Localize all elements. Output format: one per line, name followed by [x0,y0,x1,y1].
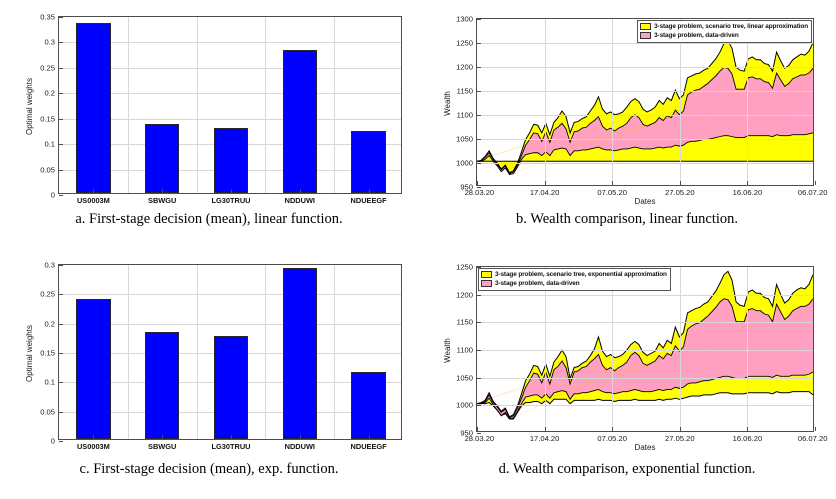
y-tick-label: 0.35 [40,13,55,22]
figure-page: Optimal weights 00.050.10.150.20.250.30.… [0,0,836,499]
y-tick-mark [59,144,63,145]
gridline [477,91,813,92]
x-tick-mark [477,181,478,185]
y-tick-label: 1200 [456,63,473,72]
x-tick-mark [300,435,301,439]
x-tick-mark [162,435,163,439]
panel-b: Wealth Dates 3-stage problem, scenario t… [418,0,836,250]
y-tick-mark [477,163,481,164]
gridline [477,295,813,296]
y-tick-mark [477,115,481,116]
chart-d-ylabel: Wealth [442,338,451,363]
y-tick-mark [59,42,63,43]
y-tick-mark [477,322,481,323]
y-tick-mark [59,17,63,18]
y-tick-label: 1100 [457,346,473,355]
x-tick-mark [300,189,301,193]
gridline-vertical [334,265,335,439]
y-tick-mark [477,43,481,44]
x-tick-label: 28.03.20 [465,188,495,197]
y-tick-mark [59,195,63,196]
x-tick-label: 28.03.20 [465,434,495,443]
gridline-vertical [197,17,198,193]
chart-a-axes[interactable]: Optimal weights 00.050.10.150.20.250.30.… [58,16,402,194]
y-tick-label: 0.1 [44,378,55,387]
gridline-vertical [545,267,546,431]
y-tick-label: 1200 [456,290,473,299]
y-tick-label: 0.05 [40,165,55,174]
y-tick-label: 0.3 [44,261,55,270]
chart-c-axes[interactable]: Optimal weights 00.050.10.150.20.250.3US… [58,264,402,440]
gridline-vertical [334,17,335,193]
y-tick-mark [477,350,481,351]
y-tick-mark [477,67,481,68]
x-tick-mark [680,181,681,185]
y-tick-mark [59,68,63,69]
legend-swatch-icon [481,271,492,278]
chart-d-xlabel: Dates [477,443,813,452]
gridline [477,115,813,116]
legend-swatch-icon [481,280,492,287]
chart-b-axes[interactable]: Wealth Dates 3-stage problem, scenario t… [476,18,814,186]
y-tick-mark [59,441,63,442]
panel-d-figure: Wealth Dates 3-stage problem, scenario t… [418,250,836,458]
y-tick-label: 1100 [457,111,473,120]
x-tick-label: 17.04.20 [530,188,560,197]
y-tick-label: 0.15 [40,114,55,123]
gridline [477,139,813,140]
y-tick-mark [477,139,481,140]
y-tick-mark [477,405,481,406]
y-tick-mark [59,412,63,413]
x-tick-mark [477,427,478,431]
y-tick-mark [59,265,63,266]
chart-d-axes[interactable]: Wealth Dates 3-stage problem, scenario t… [476,266,814,432]
gridline [477,405,813,406]
y-tick-mark [59,294,63,295]
gridline-vertical [545,19,546,185]
x-tick-label: 16.06.20 [733,434,763,443]
x-tick-label: LG30TRUU [211,442,250,451]
bar-sbwgu[interactable] [145,124,179,193]
x-tick-label: US0003M [77,442,110,451]
panel-c-caption: c. First-stage decision (mean), exp. fun… [0,458,418,478]
gridline [477,67,813,68]
x-tick-label: US0003M [77,196,110,205]
legend-entry-0[interactable]: 3-stage problem, scenario tree, exponent… [481,270,667,279]
bar-ndueegf[interactable] [351,372,385,439]
y-tick-mark [59,93,63,94]
x-tick-mark [815,427,816,431]
panel-d-caption: d. Wealth comparison, exponential functi… [418,458,836,478]
chart-d-legend[interactable]: 3-stage problem, scenario tree, exponent… [478,268,671,291]
panel-a-caption: a. First-stage decision (mean), linear f… [0,208,418,228]
gridline-vertical [128,17,129,193]
panel-a-figure: Optimal weights 00.050.10.150.20.250.30.… [0,0,418,208]
x-tick-mark [815,181,816,185]
gridline-vertical [747,267,748,431]
x-tick-label: 06.07.20 [798,434,828,443]
x-tick-mark [612,181,613,185]
gridline-vertical [265,17,266,193]
bar-us0003m[interactable] [76,299,110,439]
panel-a: Optimal weights 00.050.10.150.20.250.30.… [0,0,418,250]
y-tick-label: 1050 [456,135,473,144]
gridline [477,350,813,351]
y-tick-mark [59,382,63,383]
x-tick-mark [545,427,546,431]
bar-lg30truu[interactable] [214,336,248,439]
y-tick-label: 0.1 [44,140,55,149]
x-tick-mark [747,181,748,185]
gridline [477,163,813,164]
gridline-vertical [265,265,266,439]
x-tick-mark [747,427,748,431]
legend-swatch-icon [640,23,651,30]
bar-ndduwi[interactable] [283,268,317,439]
legend-label: 3-stage problem, scenario tree, exponent… [495,271,667,278]
x-tick-label: NDUEEGF [351,442,387,451]
x-tick-label: 27.05.20 [665,188,695,197]
x-tick-mark [612,427,613,431]
x-tick-mark [545,181,546,185]
gridline-vertical [612,19,613,185]
x-tick-label: 07.05.20 [597,188,627,197]
x-tick-mark [93,189,94,193]
x-tick-mark [369,435,370,439]
y-tick-label: 0.25 [40,290,55,299]
x-tick-mark [231,435,232,439]
x-tick-label: 17.04.20 [530,434,560,443]
x-tick-mark [231,189,232,193]
gridline-vertical [612,267,613,431]
legend-label: 3-stage problem, scenario tree, linear a… [654,23,808,30]
legend-entry-0[interactable]: 3-stage problem, scenario tree, linear a… [640,22,808,31]
chart-c-ylabel: Optimal weights [24,325,33,382]
y-tick-mark [477,19,481,20]
x-tick-label: 27.05.20 [665,434,695,443]
y-tick-mark [477,91,481,92]
y-tick-mark [477,295,481,296]
x-tick-label: NDUEEGF [351,196,387,205]
gridline-vertical [128,265,129,439]
y-tick-label: 0.2 [44,319,55,328]
bar-lg30truu[interactable] [214,128,248,193]
y-tick-label: 1250 [456,263,473,272]
x-tick-mark [369,189,370,193]
x-tick-label: LG30TRUU [211,196,250,205]
x-tick-mark [93,435,94,439]
bar-ndduwi[interactable] [283,50,317,193]
gridline [59,294,401,295]
gridline-vertical [747,19,748,185]
y-tick-mark [59,170,63,171]
y-tick-label: 1050 [456,373,473,382]
panel-d: Wealth Dates 3-stage problem, scenario t… [418,250,836,499]
gridline [477,322,813,323]
gridline [477,378,813,379]
y-tick-label: 0.15 [40,349,55,358]
chart-b-legend[interactable]: 3-stage problem, scenario tree, linear a… [637,20,812,43]
y-tick-label: 1150 [457,318,473,327]
x-tick-mark [680,427,681,431]
gridline [477,43,813,44]
y-tick-label: 1150 [457,87,473,96]
chart-b-ylabel: Wealth [442,91,451,116]
bar-ndueegf[interactable] [351,131,385,193]
chart-a-ylabel: Optimal weights [24,78,33,135]
y-tick-mark [59,324,63,325]
y-tick-mark [59,353,63,354]
y-tick-label: 0 [51,437,55,446]
panel-b-caption: b. Wealth comparison, linear function. [418,208,836,228]
legend-entry-1[interactable]: 3-stage problem, data-driven [640,31,808,40]
gridline-vertical [197,265,198,439]
legend-swatch-icon [640,32,651,39]
x-tick-label: SBWGU [148,196,176,205]
legend-label: 3-stage problem, data-driven [495,280,580,287]
legend-label: 3-stage problem, data-driven [654,32,739,39]
y-tick-label: 0 [51,191,55,200]
chart-b-xlabel: Dates [477,197,813,206]
y-tick-label: 1000 [456,401,473,410]
y-tick-label: 1300 [456,15,473,24]
x-tick-label: NDDUWI [285,196,315,205]
legend-entry-1[interactable]: 3-stage problem, data-driven [481,279,667,288]
y-tick-label: 1250 [456,39,473,48]
chart-d-plot [477,267,813,431]
panel-c-figure: Optimal weights 00.050.10.150.20.250.3US… [0,250,418,458]
bar-us0003m[interactable] [76,23,110,193]
x-tick-label: 16.06.20 [733,188,763,197]
x-tick-label: SBWGU [148,442,176,451]
gridline-vertical [680,267,681,431]
panel-c: Optimal weights 00.050.10.150.20.250.3US… [0,250,418,499]
y-tick-label: 0.3 [44,38,55,47]
y-tick-label: 1000 [456,159,473,168]
y-tick-label: 0.2 [44,89,55,98]
y-tick-mark [59,119,63,120]
x-tick-mark [162,189,163,193]
y-tick-mark [477,378,481,379]
y-tick-label: 0.25 [40,63,55,72]
x-tick-label: 06.07.20 [798,188,828,197]
panel-b-figure: Wealth Dates 3-stage problem, scenario t… [418,0,836,208]
gridline-vertical [680,19,681,185]
x-tick-label: 07.05.20 [597,434,627,443]
y-tick-label: 0.05 [40,407,55,416]
x-tick-label: NDDUWI [285,442,315,451]
bar-sbwgu[interactable] [145,332,179,439]
